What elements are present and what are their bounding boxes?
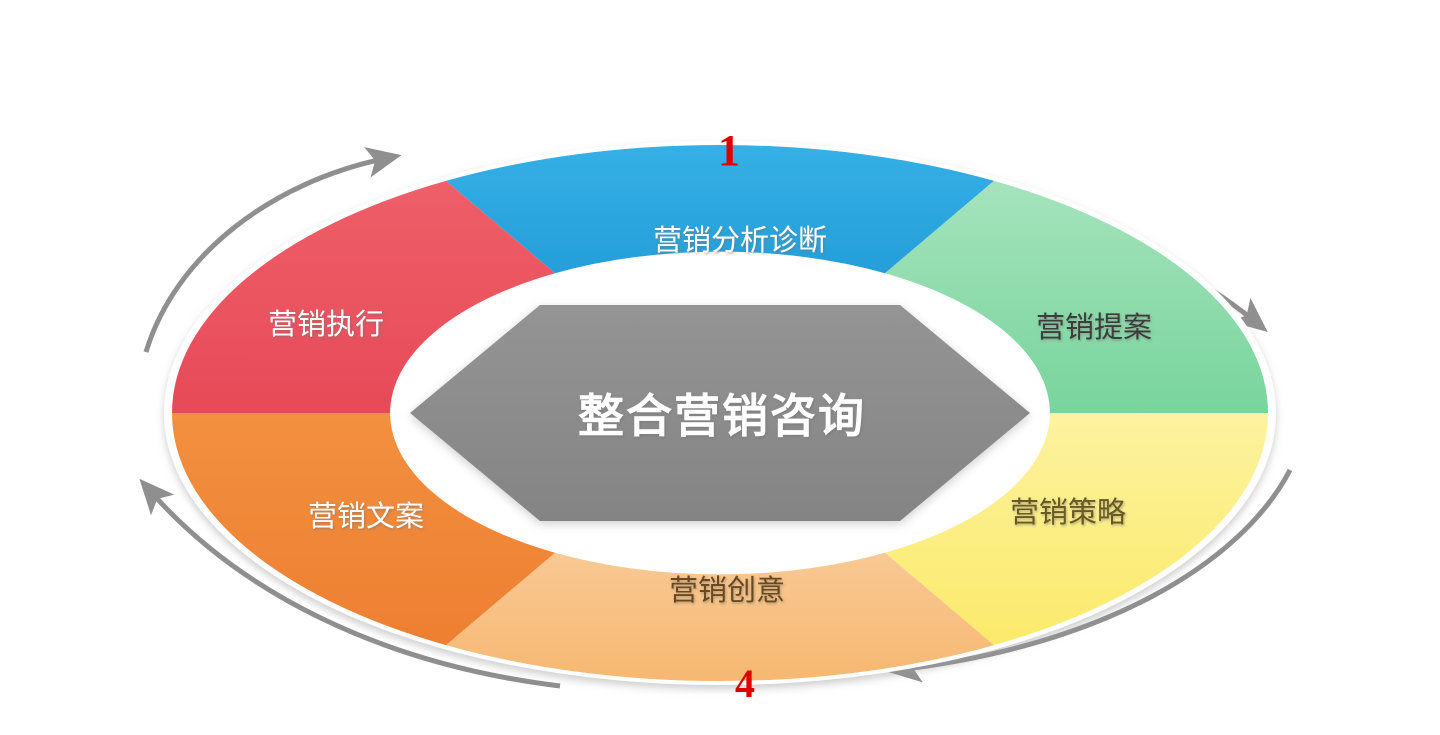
diagram-canvas: 整合营销咨询 营销分析诊断 营销提案 营销策略 营销创意 营销文案 营销执行 1… — [0, 0, 1440, 735]
step-marker-1: 1 — [718, 126, 740, 175]
step-marker-4: 4 — [735, 661, 755, 706]
segment-label-analysis: 营销分析诊断 — [653, 224, 827, 257]
segment-label-strategy: 营销策略 — [1010, 496, 1126, 529]
segment-label-execution: 营销执行 — [268, 308, 384, 341]
segment-label-proposal: 营销提案 — [1036, 311, 1152, 344]
center-hexagon-group[interactable]: 整合营销咨询 — [410, 305, 1030, 521]
segment-label-creative: 营销创意 — [669, 574, 785, 607]
integrated-marketing-cycle-diagram: 整合营销咨询 营销分析诊断 营销提案 营销策略 营销创意 营销文案 营销执行 1… — [0, 0, 1440, 735]
center-label: 整合营销咨询 — [578, 390, 866, 442]
segment-label-copywriting: 营销文案 — [308, 500, 424, 533]
